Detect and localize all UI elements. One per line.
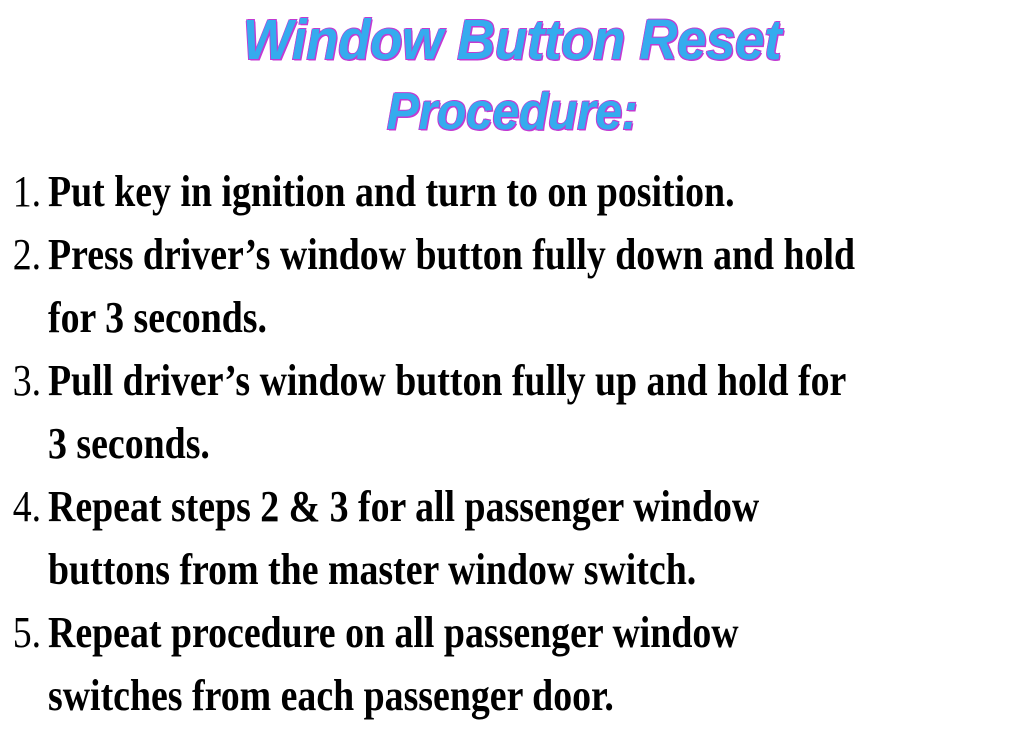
title-line-1: Window Button Reset: [36, 4, 988, 76]
list-item-number: 4.: [7, 475, 48, 538]
list-item-text: Press driver’s window button fully down …: [48, 223, 1024, 349]
procedure-list: 1.Put key in ignition and turn to on pos…: [0, 160, 1024, 727]
list-item-text: Repeat steps 2 & 3 for all passenger win…: [48, 475, 1024, 601]
slide-canvas: Window Button Reset Procedure: 1.Put key…: [0, 0, 1024, 731]
list-item-text: Put key in ignition and turn to on posit…: [48, 160, 1024, 223]
list-item-text-line: Pull driver’s window button fully up and…: [48, 349, 887, 412]
slide-title: Window Button Reset Procedure:: [0, 4, 1024, 148]
list-item: 5.Repeat procedure on all passenger wind…: [0, 601, 1024, 727]
list-item: 4.Repeat steps 2 & 3 for all passenger w…: [0, 475, 1024, 601]
list-item-text-line: switches from each passenger door.: [48, 664, 887, 727]
list-item-number: 1.: [7, 160, 48, 223]
list-item-text-line: buttons from the master window switch.: [48, 538, 887, 601]
list-item-number: 3.: [7, 349, 48, 412]
list-item-number: 5.: [7, 601, 48, 664]
list-item-text-line: Put key in ignition and turn to on posit…: [48, 160, 887, 223]
list-item-text-line: 3 seconds.: [48, 412, 887, 475]
list-item-text: Pull driver’s window button fully up and…: [48, 349, 1024, 475]
list-item: 2.Press driver’s window button fully dow…: [0, 223, 1024, 349]
list-item: 3.Pull driver’s window button fully up a…: [0, 349, 1024, 475]
list-item-text-line: Press driver’s window button fully down …: [48, 223, 887, 286]
list-item-text-line: Repeat steps 2 & 3 for all passenger win…: [48, 475, 887, 538]
list-item-text: Repeat procedure on all passenger window…: [48, 601, 1024, 727]
list-item-number: 2.: [7, 223, 48, 286]
list-item-text-line: Repeat procedure on all passenger window: [48, 601, 887, 664]
list-item: 1.Put key in ignition and turn to on pos…: [0, 160, 1024, 223]
list-item-text-line: for 3 seconds.: [48, 286, 887, 349]
title-line-2: Procedure:: [36, 76, 988, 148]
